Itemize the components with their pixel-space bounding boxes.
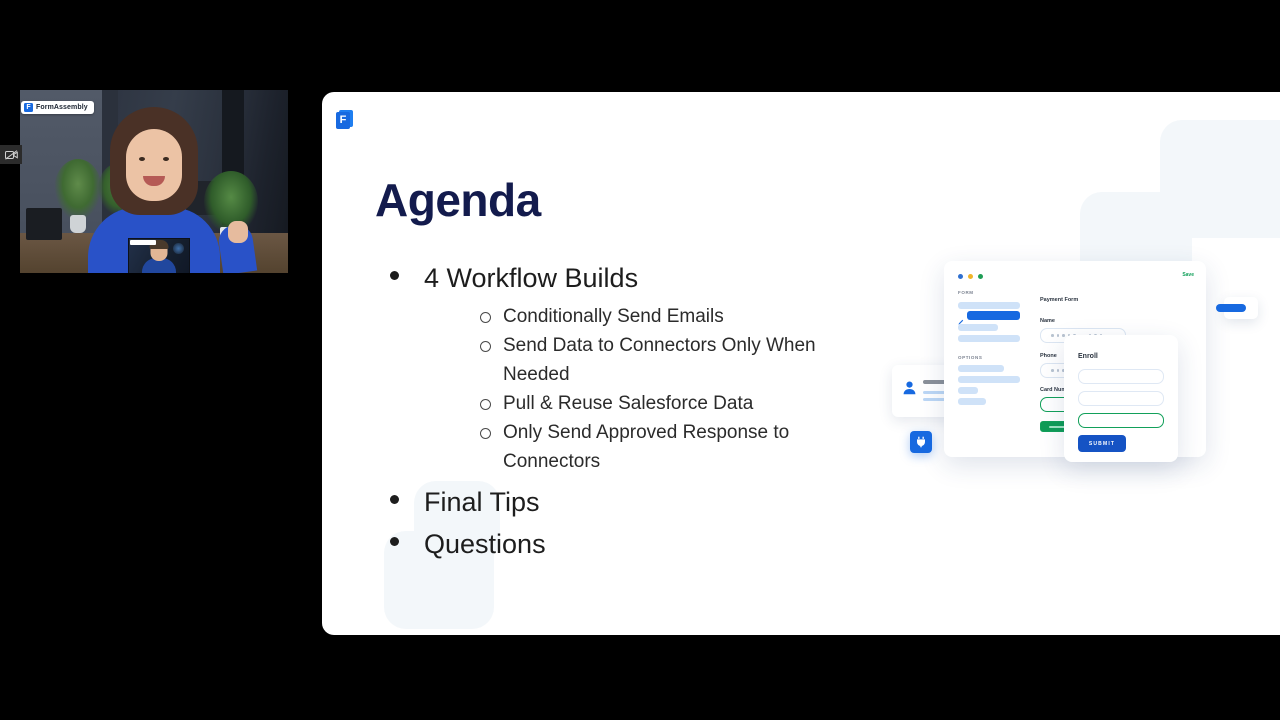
presenter-mouth <box>143 176 165 186</box>
form-heading: Payment Form <box>1040 297 1078 303</box>
presentation-slide[interactable]: F Agenda 4 Workflow Builds Conditionally… <box>322 92 1280 635</box>
toggle-switch-icon[interactable] <box>1216 304 1246 312</box>
list-item: Conditionally Send Emails <box>424 302 860 331</box>
window-dot-green <box>978 274 983 279</box>
video-watermark-label: FormAssembly <box>36 104 88 111</box>
enroll-title: Enroll <box>1078 353 1098 360</box>
bullet-dot-icon <box>390 537 399 546</box>
sub-bullet-circle-icon <box>480 428 491 439</box>
window-controls <box>958 274 983 279</box>
bullet-dot-icon <box>390 271 399 280</box>
enroll-input[interactable] <box>1078 391 1164 406</box>
sub-bullet-label: Only Send Approved Response to Connector… <box>503 422 789 472</box>
video-camera-off-icon[interactable] <box>0 145 22 164</box>
enroll-input-highlighted[interactable] <box>1078 413 1164 428</box>
form-builder-illustration: Save FORM OPTIONS Payment Form Name <box>892 257 1242 487</box>
presenter-hand <box>228 221 248 243</box>
sidebar-item[interactable] <box>958 324 998 331</box>
list-item: Send Data to Connectors Only When Needed <box>424 331 860 389</box>
sub-bullet-label: Pull & Reuse Salesforce Data <box>503 393 753 414</box>
bullet-label: Final Tips <box>424 487 540 517</box>
plant-pot-left <box>70 215 86 233</box>
bullet-label: 4 Workflow Builds <box>424 263 638 293</box>
presenter-eye-right <box>163 157 169 161</box>
enroll-submit-button[interactable]: SUBMIT <box>1078 435 1126 452</box>
window-dot-blue <box>958 274 963 279</box>
save-button[interactable]: Save <box>1182 272 1194 278</box>
sidebar-item[interactable] <box>958 335 1020 342</box>
sub-bullet-circle-icon <box>480 341 491 352</box>
list-item: 4 Workflow Builds Conditionally Send Ema… <box>380 258 860 476</box>
sub-bullet-circle-icon <box>480 312 491 323</box>
enroll-input[interactable] <box>1078 369 1164 384</box>
toggle-card <box>1224 297 1258 319</box>
bullet-dot-icon <box>390 495 399 504</box>
agenda-list: 4 Workflow Builds Conditionally Send Ema… <box>380 258 860 566</box>
user-avatar-icon <box>902 380 917 395</box>
plug-connector-icon <box>910 431 932 453</box>
sidebar-item-active[interactable] <box>967 311 1020 320</box>
agenda-sub-bullets: Conditionally Send Emails Send Data to C… <box>424 302 860 476</box>
presenter-video[interactable]: F FormAssembly <box>20 90 288 273</box>
sub-bullet-circle-icon <box>480 399 491 410</box>
sidebar-item[interactable] <box>958 302 1020 309</box>
side-table <box>26 208 62 240</box>
screen: F FormAssembly F Agenda <box>0 0 1280 720</box>
sub-bullet-label: Send Data to Connectors Only When Needed <box>503 335 816 385</box>
window-dot-yellow <box>968 274 973 279</box>
list-item: Questions <box>380 524 860 564</box>
logo-letter: F <box>336 112 350 129</box>
list-item: Pull & Reuse Salesforce Data <box>424 389 860 418</box>
presenter-eye-left <box>139 157 145 161</box>
page-title: Agenda <box>375 173 541 227</box>
formassembly-mark-icon: F <box>24 103 33 112</box>
inset-participant-video[interactable] <box>128 238 190 273</box>
inset-light-glow <box>173 243 184 254</box>
list-item: Final Tips <box>380 482 860 522</box>
plant-icon-left <box>54 159 102 221</box>
sidebar-option[interactable] <box>958 365 1004 372</box>
field-label-name: Name <box>1040 318 1055 324</box>
video-watermark: F FormAssembly <box>21 101 94 114</box>
inset-watermark <box>130 240 156 245</box>
edit-pencil-icon <box>958 312 964 318</box>
sidebar-option[interactable] <box>958 398 986 405</box>
field-label-phone: Phone <box>1040 353 1057 359</box>
list-item: Only Send Approved Response to Connector… <box>424 418 860 476</box>
sub-bullet-label: Conditionally Send Emails <box>503 306 724 327</box>
enroll-form-panel: Enroll SUBMIT <box>1064 335 1178 462</box>
sidebar-option[interactable] <box>958 387 978 394</box>
formassembly-logo: F <box>336 110 353 129</box>
sidebar-section-form: FORM <box>958 290 974 295</box>
sidebar-section-options: OPTIONS <box>958 355 982 360</box>
agenda-bullets: 4 Workflow Builds Conditionally Send Ema… <box>380 258 860 564</box>
presenter-face <box>126 129 182 201</box>
sidebar-option[interactable] <box>958 376 1020 383</box>
bullet-label: Questions <box>424 529 546 559</box>
